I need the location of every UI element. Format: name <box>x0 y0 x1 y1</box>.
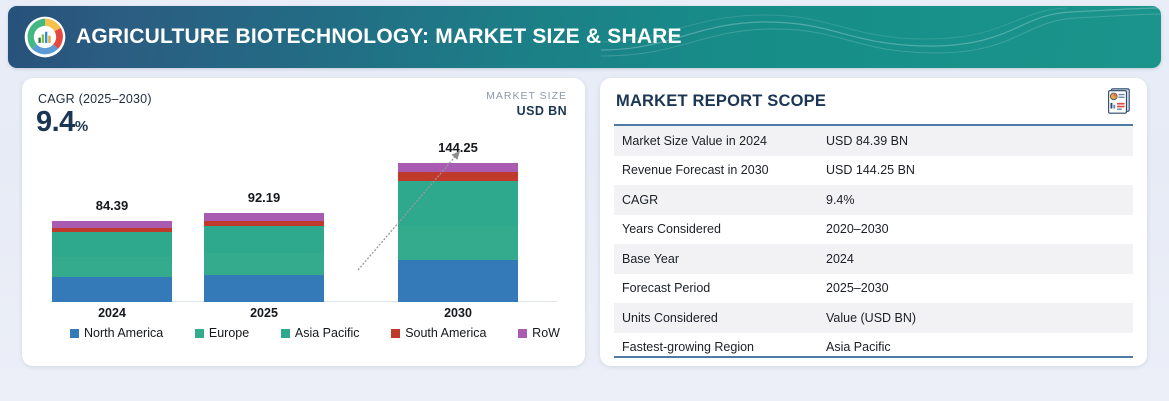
scope-row-key: Base Year <box>614 252 826 266</box>
decorative-wave-lines-icon <box>601 6 1161 68</box>
infographic-page: AGRICULTURE BIOTECHNOLOGY: MARKET SIZE &… <box>0 0 1169 401</box>
scope-row: Years Considered2020–2030 <box>614 215 1133 245</box>
bar-segment-europe[interactable] <box>398 226 518 260</box>
scope-row-key: Fastest-growing Region <box>614 340 826 354</box>
scope-table: Market Size Value in 2024USD 84.39 BNRev… <box>614 126 1133 362</box>
scope-row-value: USD 84.39 BN <box>826 134 1133 148</box>
scope-row-key: Revenue Forecast in 2030 <box>614 163 826 177</box>
x-tick-2024: 2024 <box>52 306 172 320</box>
legend-swatch-icon <box>70 329 79 338</box>
bar-segment-asia-pacific[interactable] <box>398 181 518 226</box>
scope-row: Forecast Period2025–2030 <box>614 274 1133 304</box>
legend-label: North America <box>84 326 163 340</box>
legend-item-south-america[interactable]: South America <box>391 326 486 340</box>
header-banner: AGRICULTURE BIOTECHNOLOGY: MARKET SIZE &… <box>8 6 1161 68</box>
brand-logo-icon <box>24 16 66 58</box>
scope-row-value: 9.4% <box>826 193 1133 207</box>
page-title: AGRICULTURE BIOTECHNOLOGY: MARKET SIZE &… <box>76 6 682 68</box>
legend-label: RoW <box>532 326 560 340</box>
scope-row: CAGR9.4% <box>614 185 1133 215</box>
scope-row-key: Forecast Period <box>614 281 826 295</box>
legend-label: Asia Pacific <box>295 326 360 340</box>
scope-row-value: Asia Pacific <box>826 340 1133 354</box>
scope-row-key: Years Considered <box>614 222 826 236</box>
bar-segment-north-america[interactable] <box>52 277 172 303</box>
scope-title: MARKET REPORT SCOPE <box>616 92 826 111</box>
bar-stack-2024[interactable] <box>52 221 172 302</box>
legend-label: South America <box>405 326 486 340</box>
chart-legend: North AmericaEuropeAsia PacificSouth Ame… <box>70 326 560 340</box>
scope-row: Revenue Forecast in 2030USD 144.25 BN <box>614 156 1133 186</box>
stacked-bar-chart: 84.3992.19144.25 <box>38 118 569 302</box>
legend-item-north-america[interactable]: North America <box>70 326 163 340</box>
scope-row-key: Units Considered <box>614 311 826 325</box>
bar-stack-2025[interactable] <box>204 213 324 302</box>
bar-total-label-2030: 144.25 <box>398 140 518 155</box>
bar-stack-2030[interactable] <box>398 163 518 302</box>
scope-row-value: 2025–2030 <box>826 281 1133 295</box>
legend-swatch-icon <box>281 329 290 338</box>
market-size-units: USD BN <box>517 104 567 118</box>
bar-segment-asia-pacific[interactable] <box>204 226 324 254</box>
scope-row-key: Market Size Value in 2024 <box>614 134 826 148</box>
bar-segment-south-america[interactable] <box>398 172 518 181</box>
legend-item-europe[interactable]: Europe <box>195 326 249 340</box>
legend-item-asia-pacific[interactable]: Asia Pacific <box>281 326 360 340</box>
legend-swatch-icon <box>195 329 204 338</box>
x-tick-2030: 2030 <box>398 306 518 320</box>
cagr-label: CAGR (2025–2030) <box>38 92 152 106</box>
bar-segment-row[interactable] <box>52 221 172 228</box>
report-document-icon <box>1103 86 1133 116</box>
legend-swatch-icon <box>391 329 400 338</box>
bar-segment-asia-pacific[interactable] <box>52 232 172 257</box>
scope-bottom-rule <box>614 356 1133 358</box>
scope-row: Base Year2024 <box>614 244 1133 274</box>
bar-segment-north-america[interactable] <box>204 275 324 302</box>
market-report-scope-card: MARKET REPORT SCOPE Market Size Value in… <box>600 78 1147 366</box>
scope-row-value: USD 144.25 BN <box>826 163 1133 177</box>
x-axis-labels: 202420252030 <box>38 306 569 324</box>
market-size-caption: MARKET SIZE <box>486 90 567 102</box>
x-tick-2025: 2025 <box>204 306 324 320</box>
bar-total-label-2025: 92.19 <box>204 190 324 205</box>
scope-row-key: CAGR <box>614 193 826 207</box>
bar-segment-north-america[interactable] <box>398 260 518 302</box>
legend-swatch-icon <box>518 329 527 338</box>
bar-segment-row[interactable] <box>204 213 324 220</box>
legend-item-row[interactable]: RoW <box>518 326 560 340</box>
scope-row-value: Value (USD BN) <box>826 311 1133 325</box>
scope-row-value: 2024 <box>826 252 1133 266</box>
bar-segment-europe[interactable] <box>52 257 172 276</box>
legend-label: Europe <box>209 326 249 340</box>
chart-card: CAGR (2025–2030) 9.4% MARKET SIZE USD BN… <box>22 78 585 366</box>
bar-segment-europe[interactable] <box>204 253 324 274</box>
scope-row-value: 2020–2030 <box>826 222 1133 236</box>
bar-total-label-2024: 84.39 <box>52 198 172 213</box>
scope-row: Market Size Value in 2024USD 84.39 BN <box>614 126 1133 156</box>
bar-segment-row[interactable] <box>398 163 518 171</box>
scope-row: Units ConsideredValue (USD BN) <box>614 303 1133 333</box>
